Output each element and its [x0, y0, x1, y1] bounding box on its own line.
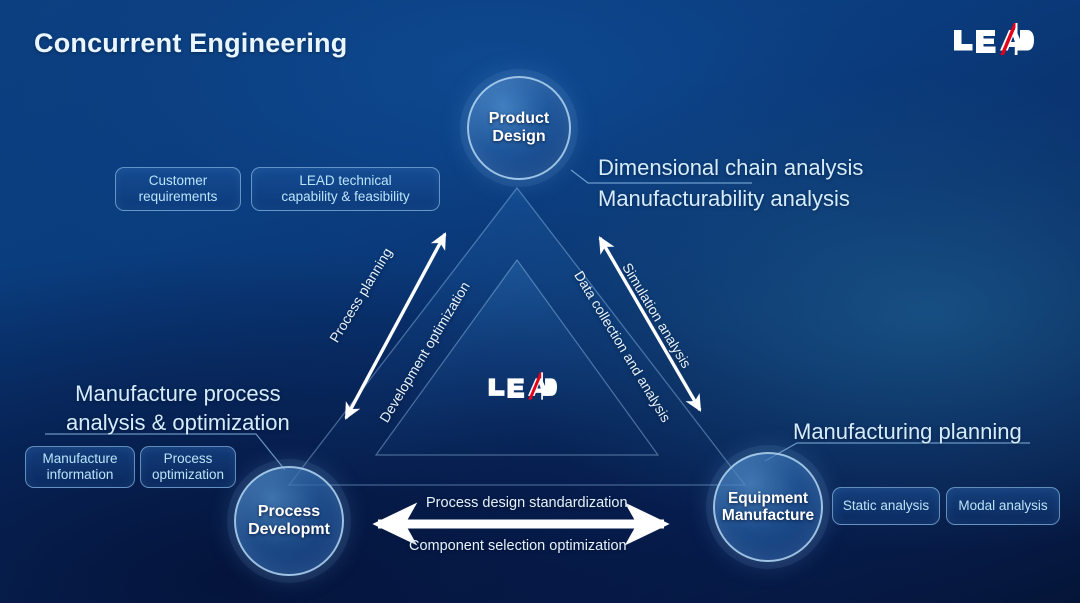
node-equipment-manufacture-line1: Equipment	[722, 490, 814, 507]
chip-modal-analysis-label: Modal analysis	[958, 498, 1047, 514]
chip-modal-analysis[interactable]: Modal analysis	[946, 487, 1060, 525]
node-equipment-manufacture[interactable]: Equipment Manufacture	[713, 452, 823, 562]
chip-lead-technical-capability[interactable]: LEAD technical capability & feasibility	[251, 167, 440, 211]
node-product-design-line1: Product	[489, 110, 549, 128]
chip-customer-requirements-line1: Customer	[139, 173, 218, 189]
node-product-design[interactable]: Product Design	[467, 76, 571, 180]
node-equipment-manufacture-line2: Manufacture	[722, 507, 814, 524]
heading-dimensional-chain-analysis: Dimensional chain analysis	[598, 153, 863, 182]
arrow-label-component-selection-optimization: Component selection optimization	[409, 538, 627, 554]
chip-customer-requirements[interactable]: Customer requirements	[115, 167, 241, 211]
heading-manufacture-process-line2: analysis & optimization	[66, 408, 290, 437]
chip-static-analysis[interactable]: Static analysis	[832, 487, 940, 525]
chip-manufacture-information-line2: information	[42, 467, 117, 483]
arrow-label-process-design-standardization: Process design standardization	[426, 495, 628, 511]
page-title: Concurrent Engineering	[34, 28, 347, 59]
heading-manufacture-process-analysis: Manufacture process analysis & optimizat…	[66, 379, 290, 437]
node-process-development[interactable]: Process Developmt	[234, 466, 344, 576]
heading-manufacturability-analysis: Manufacturability analysis	[598, 184, 850, 213]
heading-manufacture-process-line1: Manufacture process	[66, 379, 290, 408]
slide-canvas: Concurrent Engineering	[0, 0, 1080, 603]
chip-static-analysis-label: Static analysis	[843, 498, 929, 514]
lead-logo-top	[952, 22, 1034, 61]
chip-process-optimization-line1: Process	[152, 451, 224, 467]
chip-manufacture-information-line1: Manufacture	[42, 451, 117, 467]
heading-manufacturing-planning: Manufacturing planning	[793, 417, 1022, 446]
lead-wordmark-icon	[952, 22, 1034, 56]
chip-customer-requirements-line2: requirements	[139, 189, 218, 205]
chip-lead-technical-line1: LEAD technical	[281, 173, 409, 189]
node-process-development-line1: Process	[248, 503, 330, 521]
node-process-development-line2: Developmt	[248, 521, 330, 539]
node-product-design-line2: Design	[489, 128, 549, 146]
chip-process-optimization-line2: optimization	[152, 467, 224, 483]
chip-lead-technical-line2: capability & feasibility	[281, 189, 409, 205]
chip-process-optimization[interactable]: Process optimization	[140, 446, 236, 488]
chip-manufacture-information[interactable]: Manufacture information	[25, 446, 135, 488]
